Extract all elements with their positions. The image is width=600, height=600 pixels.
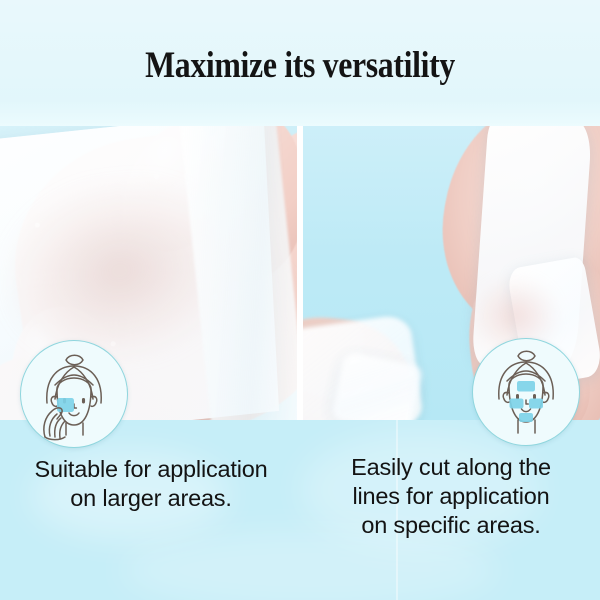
page-title: Maximize its versatility <box>42 44 558 87</box>
face-multiple-small-patches-icon <box>472 338 580 446</box>
caption-right: Easily cut along the lines for applicati… <box>308 453 594 540</box>
caption-band-texture-3 <box>120 530 500 600</box>
caption-right-line-1: Easily cut along the <box>308 453 594 482</box>
face-single-large-patch-icon <box>20 340 128 448</box>
caption-left-line-1: Suitable for application <box>8 455 294 484</box>
caption-right-line-3: on specific areas. <box>308 511 594 540</box>
caption-left-line-2: on larger areas. <box>8 484 294 513</box>
caption-left: Suitable for application on larger areas… <box>8 455 294 513</box>
product-infographic: Maximize its versatility <box>0 0 600 600</box>
caption-right-line-2: lines for application <box>308 482 594 511</box>
